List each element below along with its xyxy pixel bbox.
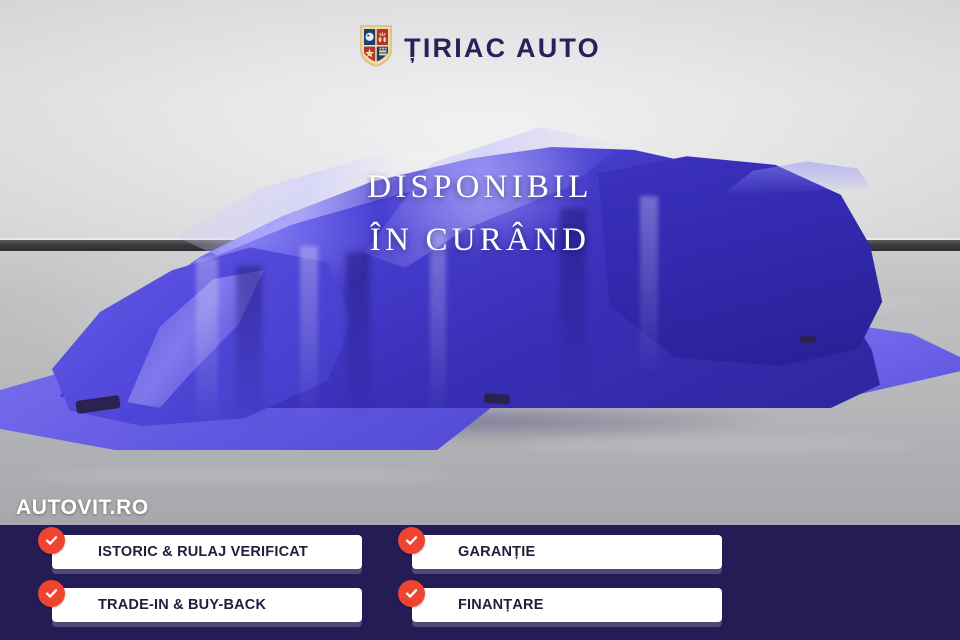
cover-fold-shadow bbox=[560, 208, 586, 392]
tiriac-shield-icon bbox=[359, 24, 393, 73]
benefit-label: ISTORIC & RULAJ VERIFICAT bbox=[52, 544, 308, 560]
cover-tuck-mid bbox=[484, 393, 511, 405]
cover-fold bbox=[430, 230, 446, 416]
covered-car-graphic bbox=[0, 0, 960, 525]
benefit-pill[interactable]: FINANȚARE bbox=[412, 588, 722, 622]
benefit-pill[interactable]: GARANȚIE bbox=[412, 535, 722, 569]
cover-tuck-right bbox=[800, 336, 816, 343]
cover-fold bbox=[640, 196, 658, 376]
autovit-watermark: AUTOVIT.RO bbox=[16, 496, 149, 520]
check-circle-icon bbox=[38, 527, 65, 554]
benefit-pill[interactable]: TRADE-IN & BUY-BACK bbox=[52, 588, 362, 622]
check-circle-icon bbox=[398, 527, 425, 554]
benefit-item-1[interactable]: TRADE-IN & BUY-BACK bbox=[52, 588, 362, 622]
check-circle-icon bbox=[38, 580, 65, 607]
check-circle-icon bbox=[398, 580, 425, 607]
benefit-item-2[interactable]: GARANȚIE bbox=[412, 535, 722, 569]
cover-fold-shadow bbox=[236, 266, 262, 426]
cover-fold bbox=[196, 258, 218, 428]
benefit-label: FINANȚARE bbox=[412, 597, 544, 613]
benefits-footer: ISTORIC & RULAJ VERIFICAT TRADE-IN & BUY… bbox=[0, 525, 960, 640]
benefit-item-3[interactable]: FINANȚARE bbox=[412, 588, 722, 622]
header-logo: ȚIRIAC AUTO bbox=[0, 24, 960, 73]
benefit-item-0[interactable]: ISTORIC & RULAJ VERIFICAT bbox=[52, 535, 362, 569]
cover-fold-shadow bbox=[346, 252, 370, 420]
hero-photo: DISPONIBIL ÎN CURÂND bbox=[0, 0, 960, 525]
header-logo-text: ȚIRIAC AUTO bbox=[404, 33, 601, 64]
benefit-label: GARANȚIE bbox=[412, 544, 535, 560]
benefit-pill[interactable]: ISTORIC & RULAJ VERIFICAT bbox=[52, 535, 362, 569]
cover-fold bbox=[300, 246, 318, 422]
promo-banner: DISPONIBIL ÎN CURÂND bbox=[0, 0, 960, 640]
benefit-label: TRADE-IN & BUY-BACK bbox=[52, 597, 266, 613]
